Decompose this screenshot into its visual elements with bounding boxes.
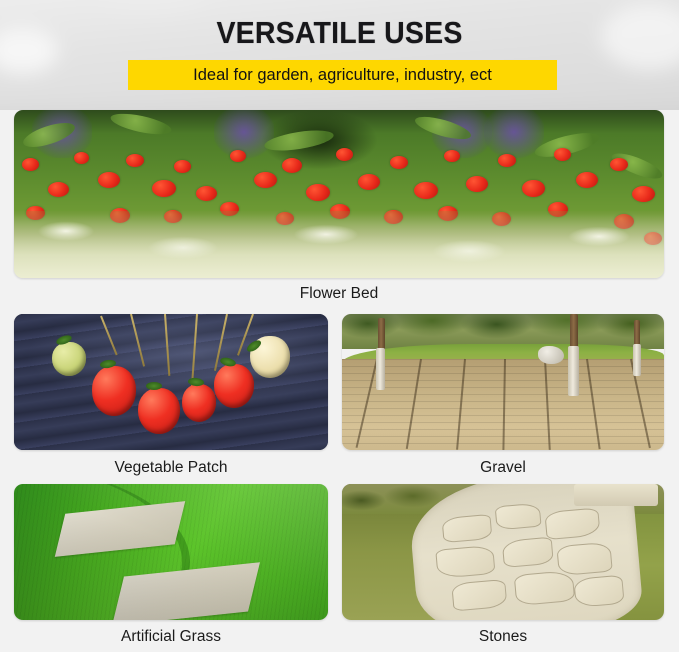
flagstone: [544, 507, 600, 540]
red-flower: [390, 156, 408, 169]
gallery-image-vegetable-patch: [14, 314, 328, 450]
whitewashed-tree-trunk: [376, 348, 385, 390]
red-flower: [152, 180, 176, 197]
red-flower: [358, 174, 380, 190]
red-flower: [522, 180, 545, 197]
whitewashed-tree-trunk: [568, 346, 579, 396]
strawberry: [182, 384, 216, 422]
tree-trunk-upper: [378, 318, 385, 350]
red-flower: [610, 158, 628, 171]
lighting-overlay: [14, 484, 328, 620]
strawberry: [138, 388, 180, 434]
red-flower: [306, 184, 330, 201]
purple-salvia: [214, 110, 274, 158]
caption-artificial-grass: Artificial Grass: [14, 627, 328, 647]
red-flower: [414, 182, 438, 199]
gallery-image-stones: [342, 484, 664, 620]
red-flower: [444, 150, 460, 162]
red-flower: [174, 160, 191, 173]
red-flower: [336, 148, 353, 161]
red-flower: [98, 172, 120, 188]
gallery-image-artificial-grass: [14, 484, 328, 620]
hero-header: VERSATILE USES Ideal for garden, agricul…: [0, 0, 679, 110]
strawberry-calyx: [146, 382, 162, 390]
red-flower: [126, 154, 144, 167]
flagstone: [502, 537, 554, 568]
red-flower: [74, 152, 89, 164]
tree-trunk-upper: [570, 314, 578, 348]
flagstone: [556, 541, 612, 576]
red-flower: [22, 158, 39, 171]
tagline-text: Ideal for garden, agriculture, industry,…: [193, 66, 492, 85]
strawberry: [92, 366, 136, 416]
red-flower: [632, 186, 655, 202]
caption-flower-bed: Flower Bed: [14, 284, 664, 304]
red-flower: [576, 172, 598, 188]
red-flower: [254, 172, 277, 188]
flagstone: [494, 503, 541, 530]
white-alyssum-border: [14, 211, 664, 278]
gravel-photo: [342, 314, 664, 450]
vegetable-patch-photo: [14, 314, 328, 450]
red-flower: [554, 148, 571, 161]
red-flower: [282, 158, 302, 173]
tagline-banner: Ideal for garden, agriculture, industry,…: [128, 60, 557, 90]
stones-photo: [342, 484, 664, 620]
flower-bed-photo: [14, 110, 664, 278]
artificial-grass-photo: [14, 484, 328, 620]
flagstone: [435, 545, 496, 578]
unripe-strawberry: [52, 342, 86, 376]
page-title: VERSATILE USES: [27, 15, 652, 51]
red-flower: [466, 176, 488, 192]
tree-trunk-upper: [634, 320, 640, 346]
red-flower: [230, 150, 246, 162]
whitewashed-tree-trunk: [633, 344, 641, 376]
white-rock: [538, 346, 564, 364]
flagstone: [573, 575, 625, 608]
gallery-image-flower-bed: [14, 110, 664, 278]
gallery-image-gravel: [342, 314, 664, 450]
flagstone: [514, 570, 575, 607]
flagstone: [441, 513, 493, 542]
caption-vegetable-patch: Vegetable Patch: [14, 458, 328, 478]
red-flower: [498, 154, 516, 167]
background-bottom-shade: [0, 100, 679, 110]
flagstone: [451, 579, 507, 612]
red-flower: [48, 182, 69, 197]
strawberry: [214, 364, 254, 408]
caption-stones: Stones: [342, 627, 664, 647]
background-wall: [574, 484, 658, 506]
caption-gravel: Gravel: [342, 458, 664, 478]
red-flower: [196, 186, 217, 201]
